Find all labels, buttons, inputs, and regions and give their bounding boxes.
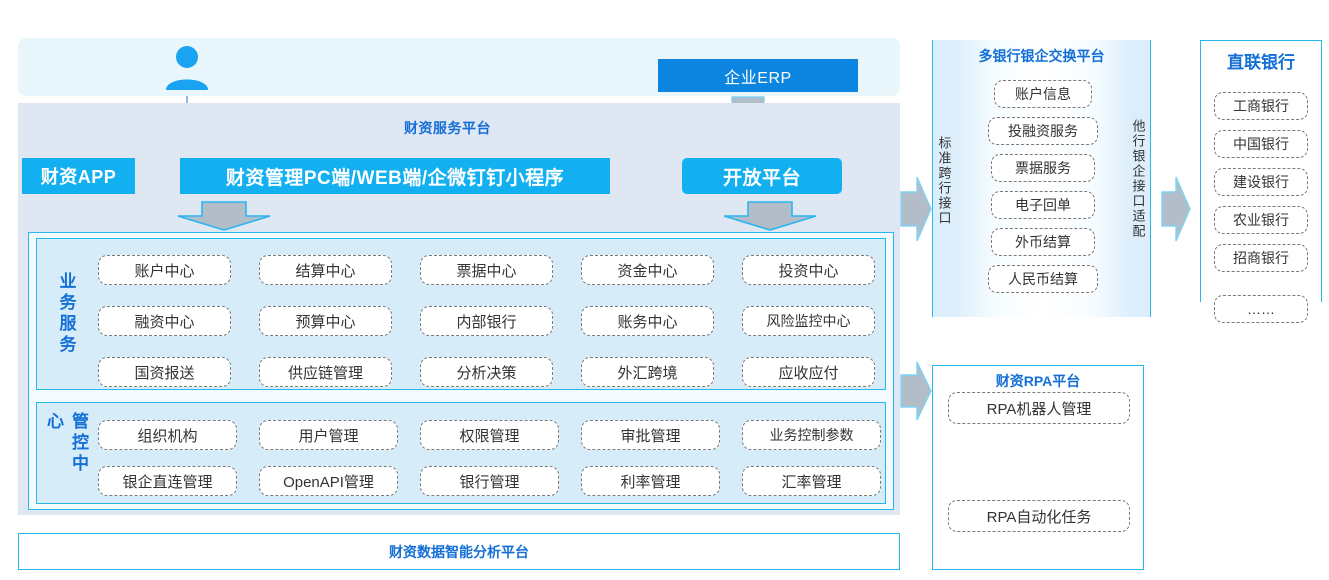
diagram-root: 企业ERP 财资服务平台 财资APP 财资管理PC端/WEB端/企微钉钉小程序 … xyxy=(0,0,1329,580)
finance-app-chip[interactable]: 财资APP xyxy=(22,158,135,194)
direct-bank-item[interactable]: 工商银行 xyxy=(1214,92,1308,120)
service-cell[interactable]: 账务中心 xyxy=(581,306,714,336)
enterprise-erp-box[interactable]: 企业ERP xyxy=(658,59,858,92)
multibank-item[interactable]: 电子回单 xyxy=(991,191,1095,219)
service-cell[interactable]: 账户中心 xyxy=(98,255,231,285)
platform-to-multibank-arrow-icon xyxy=(899,175,933,243)
rpa-title: 财资RPA平台 xyxy=(932,371,1144,391)
service-cell[interactable]: 风险监控中心 xyxy=(742,306,875,336)
service-cell[interactable]: 预算中心 xyxy=(259,306,392,336)
rpa-item[interactable]: RPA机器人管理 xyxy=(948,392,1130,424)
control-cell[interactable]: 汇率管理 xyxy=(742,466,881,496)
platform-title: 财资服务平台 xyxy=(404,118,491,138)
control-cell[interactable]: OpenAPI管理 xyxy=(259,466,398,496)
pc-down-arrow-icon xyxy=(176,200,272,232)
user-icon xyxy=(163,44,211,92)
multibank-item[interactable]: 票据服务 xyxy=(991,154,1095,182)
data-analysis-platform-bar[interactable]: 财资数据智能分析平台 xyxy=(18,533,900,570)
control-cell[interactable]: 审批管理 xyxy=(581,420,720,450)
direct-bank-item[interactable]: 中国银行 xyxy=(1214,130,1308,158)
other-bank-interface-adapter-label: 他行银企接口适配 xyxy=(1128,84,1148,274)
direct-bank-item[interactable]: 建设银行 xyxy=(1214,168,1308,196)
service-cell[interactable]: 内部银行 xyxy=(420,306,553,336)
open-platform-chip[interactable]: 开放平台 xyxy=(682,158,842,194)
control-cell[interactable]: 银行管理 xyxy=(420,466,559,496)
rpa-item[interactable]: RPA自动化任务 xyxy=(948,500,1130,532)
platform-to-rpa-arrow-icon xyxy=(899,360,933,422)
service-cell[interactable]: 应收应付 xyxy=(742,357,875,387)
direct-bank-item[interactable]: …… xyxy=(1214,295,1308,323)
control-cell[interactable]: 用户管理 xyxy=(259,420,398,450)
multibank-title: 多银行银企交换平台 xyxy=(932,46,1151,66)
direct-bank-title: 直联银行 xyxy=(1200,48,1322,73)
service-cell[interactable]: 外汇跨境 xyxy=(581,357,714,387)
multibank-item[interactable]: 外币结算 xyxy=(991,228,1095,256)
open-platform-down-arrow-icon xyxy=(722,200,818,232)
finance-pc-web-chip[interactable]: 财资管理PC端/WEB端/企微钉钉小程序 xyxy=(180,158,610,194)
service-cell[interactable]: 分析决策 xyxy=(420,357,553,387)
multibank-item[interactable]: 投融资服务 xyxy=(988,117,1098,145)
service-cell[interactable]: 票据中心 xyxy=(420,255,553,285)
standard-cross-bank-interface-label: 标准跨行接口 xyxy=(934,96,954,266)
business-services-label: 业务服务 xyxy=(54,248,78,380)
control-cell[interactable]: 组织机构 xyxy=(98,420,237,450)
service-cell[interactable]: 国资报送 xyxy=(98,357,231,387)
service-cell[interactable]: 资金中心 xyxy=(581,255,714,285)
multibank-item[interactable]: 账户信息 xyxy=(994,80,1092,108)
multibank-item[interactable]: 人民币结算 xyxy=(988,265,1098,293)
service-cell[interactable]: 融资中心 xyxy=(98,306,231,336)
control-cell[interactable]: 银企直连管理 xyxy=(98,466,237,496)
service-cell[interactable]: 结算中心 xyxy=(259,255,392,285)
control-cell[interactable]: 权限管理 xyxy=(420,420,559,450)
control-center-label: 管控中心 xyxy=(54,412,78,494)
control-cell[interactable]: 业务控制参数 xyxy=(742,420,881,450)
direct-bank-item[interactable]: 招商银行 xyxy=(1214,244,1308,272)
service-cell[interactable]: 投资中心 xyxy=(742,255,875,285)
control-cell[interactable]: 利率管理 xyxy=(581,466,720,496)
service-cell[interactable]: 供应链管理 xyxy=(259,357,392,387)
multibank-to-directbank-arrow-icon xyxy=(1160,175,1192,243)
direct-bank-item[interactable]: 农业银行 xyxy=(1214,206,1308,234)
